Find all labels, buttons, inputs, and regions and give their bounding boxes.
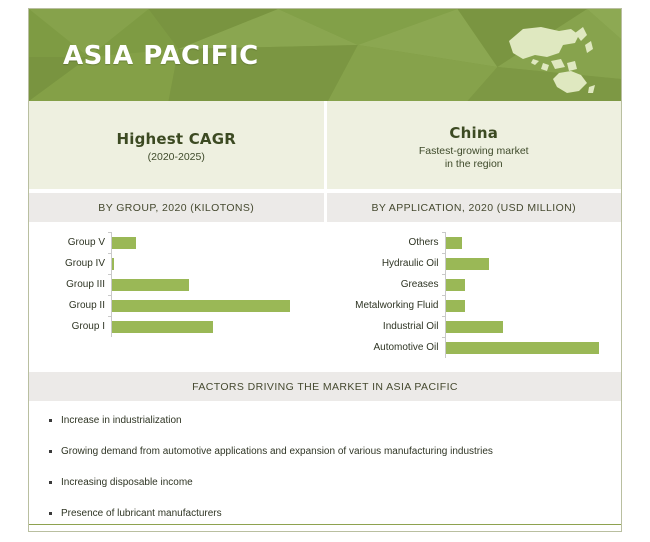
bar-row: Industrial Oil bbox=[335, 316, 612, 337]
bar-chart-body: Group VGroup IVGroup IIIGroup IIGroup I bbox=[37, 232, 314, 337]
chart-by-group: Group VGroup IVGroup IIIGroup IIGroup I bbox=[29, 222, 324, 366]
asia-pacific-map-icon bbox=[489, 19, 607, 97]
highlight-card-cagr: Highest CAGR (2020-2025) bbox=[29, 101, 324, 189]
factor-list-item: Growing demand from automotive applicati… bbox=[47, 446, 605, 458]
bar-row: Others bbox=[335, 232, 612, 253]
bar-fill bbox=[446, 342, 600, 354]
bar-fill bbox=[446, 258, 489, 270]
bar-category-label: Group II bbox=[37, 300, 111, 311]
bar-row: Group II bbox=[37, 295, 314, 316]
bar-track bbox=[111, 274, 314, 295]
bar-category-label: Group V bbox=[37, 237, 111, 248]
bar-track bbox=[445, 295, 612, 316]
bar-fill bbox=[446, 300, 466, 312]
bar-row: Group V bbox=[37, 232, 314, 253]
bottom-accent-strip bbox=[29, 524, 621, 531]
bar-row: Greases bbox=[335, 274, 612, 295]
bar-chart-body: OthersHydraulic OilGreasesMetalworking F… bbox=[335, 232, 612, 358]
chart-headers-row: BY GROUP, 2020 (KILOTONS) BY APPLICATION… bbox=[29, 193, 621, 222]
bar-row: Group III bbox=[37, 274, 314, 295]
bar-category-label: Metalworking Fluid bbox=[335, 300, 445, 311]
bar-category-label: Greases bbox=[335, 279, 445, 290]
bar-row: Automotive Oil bbox=[335, 337, 612, 358]
bar-category-label: Group I bbox=[37, 321, 111, 332]
bar-fill bbox=[446, 279, 466, 291]
highlight-card-title: China bbox=[449, 124, 498, 142]
chart-header-by-group: BY GROUP, 2020 (KILOTONS) bbox=[29, 193, 324, 222]
bar-fill bbox=[446, 237, 463, 249]
bar-track bbox=[111, 295, 314, 316]
highlight-card-title: Highest CAGR bbox=[117, 130, 237, 148]
factor-list-item: Presence of lubricant manufacturers bbox=[47, 508, 605, 520]
bar-track bbox=[445, 253, 612, 274]
bar-track bbox=[111, 316, 314, 337]
bar-row: Group I bbox=[37, 316, 314, 337]
header-banner: ASIA PACIFIC bbox=[29, 9, 621, 101]
page-title: ASIA PACIFIC bbox=[63, 41, 259, 71]
factor-list-item: Increasing disposable income bbox=[47, 477, 605, 489]
bar-fill bbox=[112, 237, 136, 249]
bar-category-label: Group IV bbox=[37, 258, 111, 269]
bar-track bbox=[445, 337, 612, 358]
bar-fill bbox=[112, 300, 290, 312]
factors-header: FACTORS DRIVING THE MARKET IN ASIA PACIF… bbox=[29, 372, 621, 401]
bar-row: Metalworking Fluid bbox=[335, 295, 612, 316]
bar-fill bbox=[112, 279, 189, 291]
chart-by-application: OthersHydraulic OilGreasesMetalworking F… bbox=[327, 222, 622, 366]
bar-track bbox=[445, 274, 612, 295]
chart-header-by-application: BY APPLICATION, 2020 (USD MILLION) bbox=[327, 193, 622, 222]
factor-list-item: Increase in industrialization bbox=[47, 415, 605, 427]
highlight-card-subtitle-line2: in the region bbox=[445, 158, 503, 171]
bar-fill bbox=[112, 258, 114, 270]
bar-category-label: Industrial Oil bbox=[335, 321, 445, 332]
bar-category-label: Others bbox=[335, 237, 445, 248]
bar-track bbox=[445, 316, 612, 337]
bar-row: Hydraulic Oil bbox=[335, 253, 612, 274]
bar-fill bbox=[446, 321, 504, 333]
bar-track bbox=[111, 253, 314, 274]
factors-list: Increase in industrializationGrowing dem… bbox=[29, 401, 621, 530]
bar-category-label: Automotive Oil bbox=[335, 342, 445, 353]
highlight-cards-row: Highest CAGR (2020-2025) China Fastest-g… bbox=[29, 101, 621, 189]
bar-category-label: Group III bbox=[37, 279, 111, 290]
bar-track bbox=[111, 232, 314, 253]
highlight-card-subtitle-line1: (2020-2025) bbox=[148, 151, 205, 164]
charts-row: Group VGroup IVGroup IIIGroup IIGroup I … bbox=[29, 222, 621, 366]
highlight-card-subtitle-line1: Fastest-growing market bbox=[419, 145, 529, 158]
infographic-card: ASIA PACIFIC Highest CAGR (2020 bbox=[28, 8, 622, 532]
bar-track bbox=[445, 232, 612, 253]
bar-category-label: Hydraulic Oil bbox=[335, 258, 445, 269]
bar-fill bbox=[112, 321, 213, 333]
highlight-card-country: China Fastest-growing market in the regi… bbox=[327, 101, 622, 189]
bar-row: Group IV bbox=[37, 253, 314, 274]
